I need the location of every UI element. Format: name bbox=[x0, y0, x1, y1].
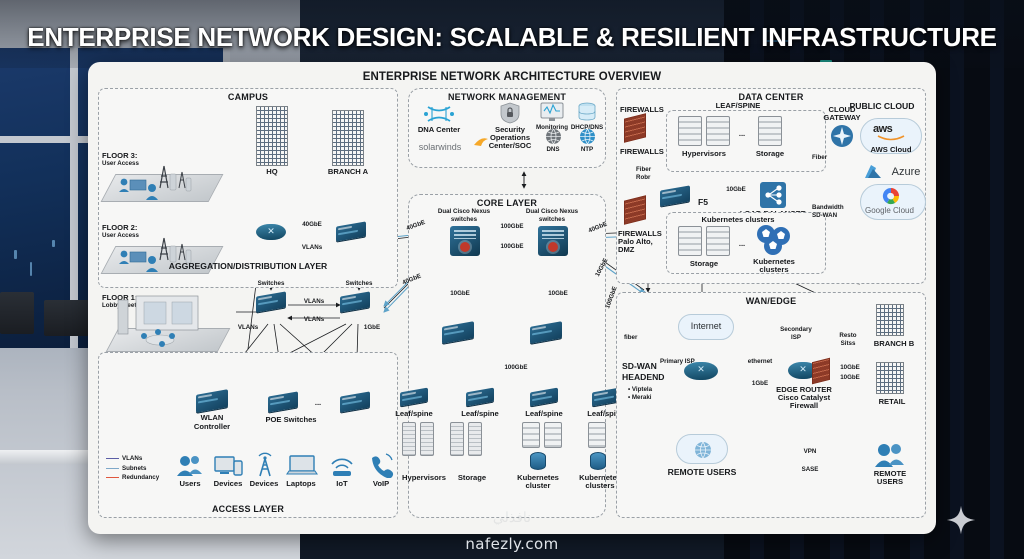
core-link-10gbe-left: 10GbE bbox=[450, 290, 470, 297]
azure-label: Azure bbox=[892, 166, 921, 179]
aggregation-layer-label: AGGREGATION/DISTRIBUTION LAYER bbox=[169, 262, 328, 272]
link-vlans-floor1: VLANs bbox=[238, 324, 258, 331]
shield-lock-icon bbox=[500, 102, 520, 124]
globe-icon-dns bbox=[545, 128, 562, 145]
card-watermark: نافذلي bbox=[493, 509, 531, 526]
wan-fiber-label: fiber bbox=[624, 334, 637, 341]
switches-label-left: Switches bbox=[258, 280, 285, 287]
public-cloud-title: PUBLIC CLOUD bbox=[850, 102, 915, 112]
dc-bandwidth-label-2: SD-WAN bbox=[812, 212, 837, 219]
branch-a-building-icon bbox=[332, 110, 364, 166]
leaf-switch-3[interactable] bbox=[530, 390, 558, 404]
sdwan-label-1: SD-WAN bbox=[622, 362, 657, 372]
dc-hypervisor-rack-2 bbox=[706, 116, 730, 146]
link-1gbe: 1GbE bbox=[364, 324, 380, 331]
dc-ellipsis: ... bbox=[739, 130, 745, 139]
kube-db-2 bbox=[590, 452, 606, 470]
poe-switch-2[interactable] bbox=[340, 394, 370, 410]
soc-label-3: Center/SOC bbox=[489, 142, 532, 151]
ethernet-label: ethernet bbox=[748, 358, 772, 365]
load-balancer-icon bbox=[760, 182, 786, 208]
storage-label: Storage bbox=[458, 474, 486, 483]
core-link-100gbe-leaf: 100GbE bbox=[504, 364, 527, 371]
azure-icon bbox=[864, 164, 882, 180]
endpoint-label-devices-2: Devices bbox=[250, 480, 279, 489]
link-vlans-agg: VLANs bbox=[302, 244, 322, 251]
wlan-controller[interactable] bbox=[196, 392, 228, 410]
endpoint-label-iot: IoT bbox=[336, 480, 347, 489]
dc-core-switch[interactable] bbox=[660, 188, 690, 204]
dc-link-10gbe: 10GbE bbox=[726, 186, 746, 193]
kubernetes-icon bbox=[754, 224, 792, 256]
resto-sites-label-1: Resto bbox=[839, 332, 856, 339]
retail-label: RETAIL bbox=[879, 398, 906, 407]
legend-label-redundancy: Redundancy bbox=[122, 474, 159, 481]
access-layer-title: ACCESS LAYER bbox=[99, 504, 397, 514]
database-icon bbox=[577, 102, 597, 122]
firewalls-label-3c: DMZ bbox=[618, 246, 634, 255]
sase-label: SASE bbox=[802, 466, 819, 473]
link-vlans-dist-2: VLANs bbox=[304, 316, 324, 323]
hq-building-icon bbox=[256, 106, 288, 166]
sdwan-bullet-2: • Meraki bbox=[628, 394, 652, 401]
remote-users-cloud-label: REMOTE USERS bbox=[668, 468, 737, 478]
floor-1-lobby-icon bbox=[114, 294, 226, 352]
leaf-switch-1[interactable] bbox=[400, 390, 428, 404]
firewalls-label-2: FIREWALLS bbox=[620, 148, 664, 157]
nexus-left-label-2: switches bbox=[451, 216, 477, 223]
legend-swatch-vlans bbox=[106, 458, 119, 459]
spine-switch-left[interactable] bbox=[442, 324, 474, 341]
kube-db-1 bbox=[530, 452, 546, 470]
kube-cluster-label-2b: clusters bbox=[585, 482, 614, 491]
branch-b-building-icon bbox=[876, 304, 904, 336]
aggregation-router[interactable] bbox=[256, 224, 286, 240]
edge-router-label-3: Firewall bbox=[790, 402, 818, 411]
voip-icon bbox=[368, 452, 394, 478]
sdwan-label-2: HEADEND bbox=[622, 373, 665, 383]
resto-sites-label-2: Sitss bbox=[841, 340, 856, 347]
sdwan-bullet-1: • Viptela bbox=[628, 386, 652, 393]
wan-link-10gbe-2: 10GbE bbox=[840, 374, 860, 381]
secondary-isp-label-2: ISP bbox=[791, 334, 801, 341]
dns-label: DNS bbox=[546, 146, 559, 153]
campus-title: CAMPUS bbox=[99, 92, 397, 102]
diagram-title: ENTERPRISE NETWORK ARCHITECTURE OVERVIEW bbox=[88, 71, 936, 83]
internet-cloud: Internet bbox=[678, 314, 734, 340]
access-layer-panel: ACCESS LAYER bbox=[98, 352, 398, 518]
dc-hypervisor-rack-1 bbox=[678, 116, 702, 146]
core-layer-title: CORE LAYER bbox=[409, 198, 605, 208]
google-cloud: Google Cloud bbox=[860, 184, 926, 220]
hypervisor-rack-2 bbox=[420, 422, 434, 456]
hypervisors-label: Hypervisors bbox=[402, 474, 446, 483]
dc-kube-storage-label: Storage bbox=[690, 260, 718, 269]
switches-label-right: Switches bbox=[346, 280, 373, 287]
legend-item-vlans: VLANs bbox=[106, 455, 159, 462]
leaf-switch-2[interactable] bbox=[466, 390, 494, 404]
legend-item-redundancy: Redundancy bbox=[106, 474, 159, 481]
legend-swatch-subnets bbox=[106, 468, 119, 469]
link-vlans-dist-1: VLANs bbox=[304, 298, 324, 305]
dc-kube-rack-2 bbox=[706, 226, 730, 256]
endpoint-label-devices: Devices bbox=[214, 480, 243, 489]
kube-rack-2 bbox=[544, 422, 562, 448]
legend-item-subnets: Subnets bbox=[106, 465, 159, 472]
nexus-right-label-1: Dual Cisco Nexus bbox=[526, 208, 578, 215]
onegbe-label: 1GbE bbox=[752, 380, 768, 387]
dc-hypervisors-label: Hypervisors bbox=[682, 150, 726, 159]
dc-kube-rack-1 bbox=[678, 226, 702, 256]
link-40gbe-campus: 40GbE bbox=[302, 221, 322, 228]
edge-firewall-icon bbox=[812, 358, 830, 384]
remote-users-icon bbox=[874, 442, 906, 468]
vpn-label: VPN bbox=[804, 448, 817, 455]
laptop-icon bbox=[286, 454, 318, 478]
page-title: ENTERPRISE NETWORK DESIGN: SCALABLE & RE… bbox=[0, 22, 1024, 53]
dc-fiber-label: Fiber bbox=[812, 154, 827, 161]
branch-a-label: BRANCH A bbox=[328, 168, 368, 177]
ntp-label: NTP bbox=[581, 146, 593, 153]
storage-rack-2 bbox=[468, 422, 482, 456]
sparkle-icon bbox=[946, 505, 976, 535]
retail-building-icon bbox=[876, 362, 904, 394]
legend-label-vlans: VLANs bbox=[122, 455, 142, 462]
globe-icon-ntp bbox=[579, 128, 596, 145]
monitor-icon bbox=[540, 102, 564, 122]
hq-label: HQ bbox=[266, 168, 277, 177]
users-icon bbox=[176, 454, 204, 478]
fiber-robr-label-1: Fiber bbox=[636, 166, 651, 173]
endpoint-label-users: Users bbox=[179, 480, 200, 489]
fiber-robr-label-2: Robr bbox=[636, 174, 650, 181]
core-nexus-switch-right[interactable] bbox=[538, 226, 568, 256]
dna-center-label: DNA Center bbox=[418, 126, 460, 135]
dc-kube-label-2: clusters bbox=[759, 266, 788, 275]
access-ellipsis: ... bbox=[315, 399, 321, 408]
endpoint-label-laptops: Laptops bbox=[286, 480, 316, 489]
legend-label-subnets: Subnets bbox=[122, 465, 146, 472]
aggregation-switch-right[interactable] bbox=[336, 224, 366, 239]
solarwinds-logo: solarwinds bbox=[419, 142, 462, 152]
cloud-gateway-label-2: GATEWAY bbox=[823, 114, 860, 123]
endpoint-label-voip: VoIP bbox=[373, 480, 389, 489]
wan-link-10gbe-1: 10GbE bbox=[840, 364, 860, 371]
wlan-controller-label-2: Controller bbox=[194, 423, 230, 432]
dc-kube-ellipsis: ... bbox=[739, 240, 745, 249]
spine-switch-right[interactable] bbox=[530, 324, 562, 341]
distribution-switch-right[interactable] bbox=[340, 294, 370, 310]
legend-swatch-redundancy bbox=[106, 477, 119, 478]
core-link-100gbe-1: 100GbE bbox=[500, 223, 523, 230]
leaf-spine-label-2: Leaf/spine bbox=[461, 410, 499, 419]
core-link-10gbe-right: 10GbE bbox=[548, 290, 568, 297]
leaf-spine-label-1: Leaf/spine bbox=[395, 410, 433, 419]
internet-label: Internet bbox=[679, 321, 733, 331]
f5-label: F5 bbox=[698, 198, 708, 208]
core-link-100gbe-2: 100GbE bbox=[500, 243, 523, 250]
network-management-title: NETWORK MANAGEMENT bbox=[409, 92, 605, 102]
devices-icon bbox=[214, 454, 244, 478]
poe-switch-1[interactable] bbox=[268, 394, 298, 410]
dc-storage-rack bbox=[758, 116, 782, 146]
nexus-right-label-2: switches bbox=[539, 216, 565, 223]
storage-rack-1 bbox=[450, 422, 464, 456]
branch-b-label: BRANCH B bbox=[874, 340, 915, 349]
distribution-switch-left[interactable] bbox=[256, 294, 286, 310]
floor-3-equipment-icon bbox=[116, 158, 216, 202]
secondary-isp-label-1: Secondary bbox=[780, 326, 812, 333]
diagram-card: ENTERPRISE NETWORK ARCHITECTURE OVERVIEW bbox=[88, 62, 936, 534]
cloud-gateway-icon bbox=[830, 124, 854, 148]
kube-rack-3 bbox=[588, 422, 606, 448]
core-nexus-switch-left[interactable] bbox=[450, 226, 480, 256]
solarwinds-flame-icon bbox=[474, 138, 488, 148]
hypervisor-rack-1 bbox=[402, 422, 416, 456]
iot-icon bbox=[328, 454, 356, 478]
poe-switches-label: POE Switches bbox=[265, 416, 316, 425]
dna-center-icon bbox=[424, 104, 454, 124]
dc-storage-label: Storage bbox=[756, 150, 784, 159]
remote-users-cloud bbox=[676, 434, 728, 464]
kube-rack-1 bbox=[522, 422, 540, 448]
remote-users-label-2: USERS bbox=[877, 478, 903, 487]
dc-bandwidth-label-1: Bandwidth bbox=[812, 204, 844, 211]
leaf-spine-label-3: Leaf/spine bbox=[525, 410, 563, 419]
kube-cluster-label-1b: cluster bbox=[526, 482, 551, 491]
sdwan-headend-router[interactable] bbox=[684, 362, 718, 380]
antenna-icon bbox=[252, 452, 278, 478]
legend: VLANs Subnets Redundancy bbox=[106, 455, 159, 484]
site-watermark: nafezly.com bbox=[465, 535, 558, 553]
aws-cloud-label: AWS Cloud bbox=[871, 146, 912, 155]
nexus-left-label-1: Dual Cisco Nexus bbox=[438, 208, 490, 215]
